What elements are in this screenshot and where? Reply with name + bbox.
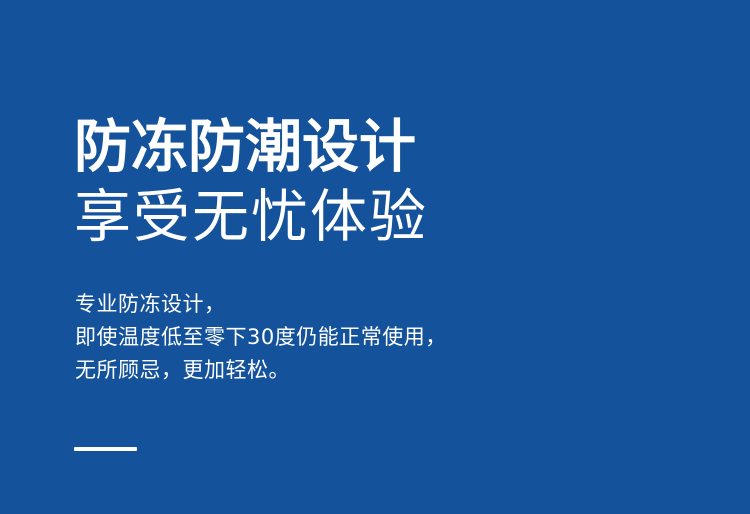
body-copy-group: 专业防冻设计， 即使温度低至零下30度仍能正常使用， 无所顾忌，更加轻松。 [75,288,695,387]
body-line-3: 无所顾忌，更加轻松。 [75,354,695,387]
banner-content: 防冻防潮设计 享受无忧体验 专业防冻设计， 即使温度低至零下30度仍能正常使用，… [74,0,694,514]
headline-line-secondary: 享受无忧体验 [74,182,694,252]
headline-group: 防冻防潮设计 享受无忧体验 [74,112,694,252]
headline-line-primary: 防冻防潮设计 [74,112,694,182]
body-line-1: 专业防冻设计， [75,288,695,321]
accent-divider [74,447,137,451]
promo-banner: 防冻防潮设计 享受无忧体验 专业防冻设计， 即使温度低至零下30度仍能正常使用，… [0,0,750,514]
body-line-2: 即使温度低至零下30度仍能正常使用， [75,321,695,354]
